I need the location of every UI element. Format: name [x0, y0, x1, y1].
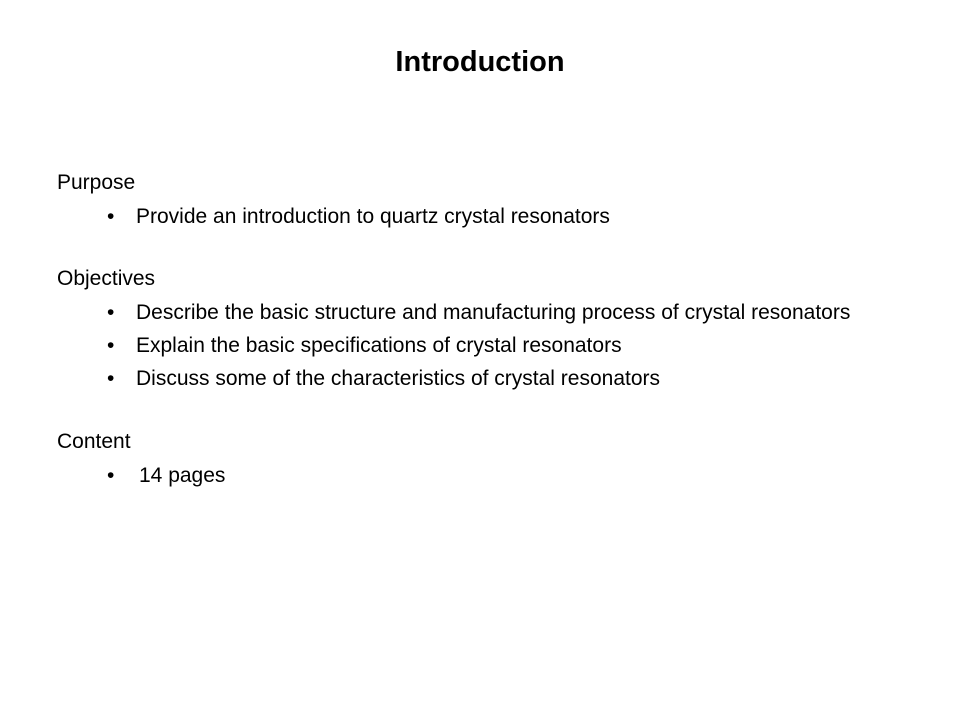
bullet-dot-icon: • [107, 365, 114, 393]
slide: Introduction Purpose • Provide an introd… [0, 0, 960, 720]
section-content: Content • 14 pages [57, 427, 907, 490]
section-purpose: Purpose • Provide an introduction to qua… [57, 168, 907, 231]
bullet-list-content: • 14 pages [57, 462, 907, 490]
slide-body: Purpose • Provide an introduction to qua… [57, 168, 907, 490]
list-item: • Provide an introduction to quartz crys… [57, 203, 907, 231]
list-item: • Discuss some of the characteristics of… [57, 365, 907, 393]
bullet-dot-icon: • [107, 299, 114, 327]
bullet-dot-icon: • [107, 462, 114, 490]
list-item: • 14 pages [57, 462, 907, 490]
list-item-text: Provide an introduction to quartz crysta… [136, 205, 610, 228]
page-title: Introduction [0, 44, 960, 80]
list-item-text: 14 pages [139, 464, 225, 487]
section-heading-objectives: Objectives [57, 264, 907, 294]
section-gap [57, 393, 907, 427]
list-item-text: Describe the basic structure and manufac… [136, 301, 850, 324]
list-item: • Describe the basic structure and manuf… [57, 299, 907, 327]
section-objectives: Objectives • Describe the basic structur… [57, 264, 907, 393]
list-item-text: Explain the basic specifications of crys… [136, 334, 622, 357]
list-item-text: Discuss some of the characteristics of c… [136, 367, 660, 390]
bullet-dot-icon: • [107, 332, 114, 360]
list-item: • Explain the basic specifications of cr… [57, 332, 907, 360]
bullet-list-objectives: • Describe the basic structure and manuf… [57, 299, 907, 393]
bullet-list-purpose: • Provide an introduction to quartz crys… [57, 203, 907, 231]
section-heading-content: Content [57, 427, 907, 457]
section-gap [57, 231, 907, 264]
section-heading-purpose: Purpose [57, 168, 907, 198]
bullet-dot-icon: • [107, 203, 114, 231]
